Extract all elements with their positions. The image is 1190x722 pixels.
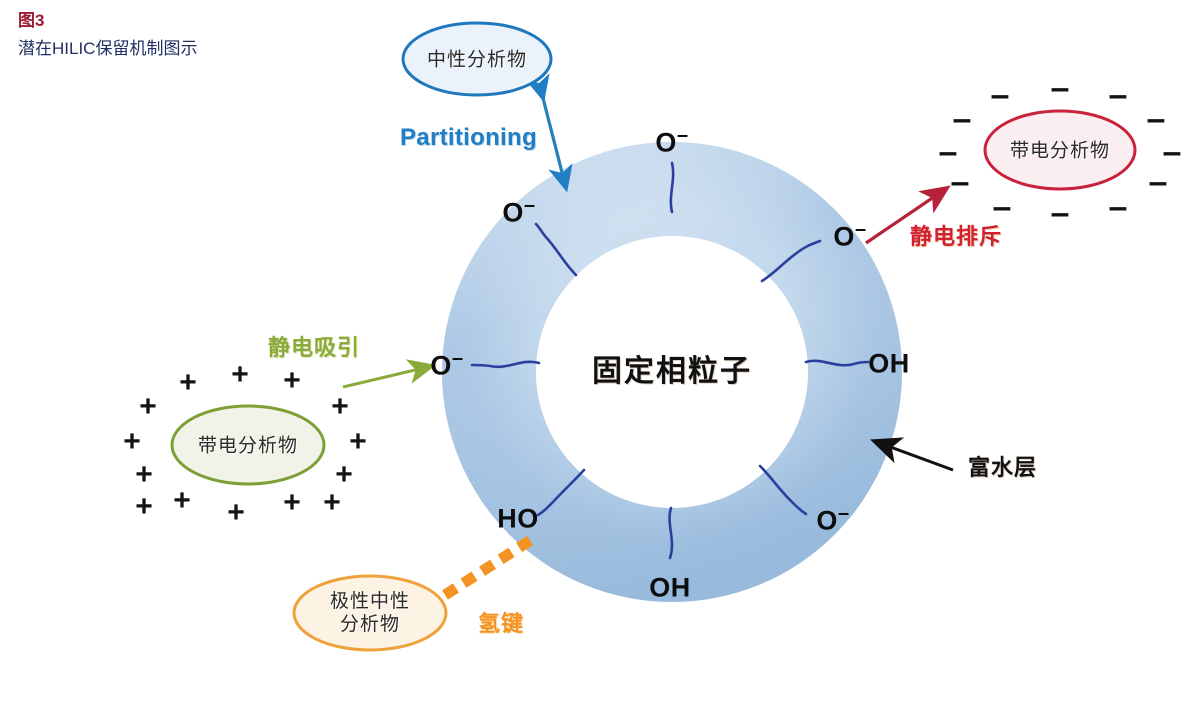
minus-sign-11: – xyxy=(1109,190,1128,224)
mechanism-label-partitioning: Partitioning xyxy=(400,126,537,150)
mechanism-label-electrostatic-attraction: 静电吸引 xyxy=(268,337,360,359)
group-label-left: O– xyxy=(430,353,463,380)
plus-sign-1: + xyxy=(231,360,249,390)
minus-sign-1: – xyxy=(1051,71,1070,105)
plus-sign-10: + xyxy=(227,498,245,528)
group-label-bottom: OH xyxy=(649,575,691,602)
minus-sign-9: – xyxy=(993,190,1012,224)
analyte-positive-ellipse xyxy=(172,406,324,484)
stationary-phase-label: 固定相粒子 xyxy=(592,357,752,387)
analyte-polar-neutral-ellipse xyxy=(294,576,446,650)
hydrogen-bond-dashes xyxy=(445,538,534,595)
plus-sign-9: + xyxy=(173,486,191,516)
plus-sign-0: + xyxy=(179,368,197,398)
group-label-lower-right: O– xyxy=(816,508,849,535)
minus-sign-2: – xyxy=(1109,78,1128,112)
mechanism-label-hydrogen-bonding: 氢键 xyxy=(478,613,524,635)
plus-sign-6: + xyxy=(349,427,367,457)
mechanism-label-water-rich-layer: 富水层 xyxy=(968,457,1037,479)
plus-sign-5: + xyxy=(123,427,141,457)
analyte-neutral-ellipse xyxy=(403,23,551,95)
analyte-negative-ellipse xyxy=(985,111,1135,189)
minus-sign-7: – xyxy=(951,165,970,199)
minus-sign-4: – xyxy=(1147,102,1166,136)
minus-sign-8: – xyxy=(1149,165,1168,199)
plus-sign-12: + xyxy=(323,488,341,518)
group-label-right: OH xyxy=(868,351,910,378)
minus-sign-0: – xyxy=(991,78,1010,112)
plus-sign-11: + xyxy=(283,488,301,518)
group-label-lower-left: HO xyxy=(497,506,539,533)
group-label-top: O– xyxy=(655,130,688,157)
group-label-upper-left: O– xyxy=(502,200,535,227)
plus-sign-7: + xyxy=(135,460,153,490)
attraction-arrow xyxy=(343,366,432,387)
plus-sign-2: + xyxy=(283,366,301,396)
group-label-upper-right: O– xyxy=(833,224,866,251)
mechanism-label-electrostatic-repulsion: 静电排斥 xyxy=(910,226,1002,248)
figure-canvas: 图3 潜在HILIC保留机制图示 xyxy=(0,0,1190,722)
minus-sign-10: – xyxy=(1051,196,1070,230)
plus-sign-3: + xyxy=(139,392,157,422)
minus-sign-3: – xyxy=(953,102,972,136)
plus-sign-4: + xyxy=(331,392,349,422)
plus-sign-13: + xyxy=(135,492,153,522)
